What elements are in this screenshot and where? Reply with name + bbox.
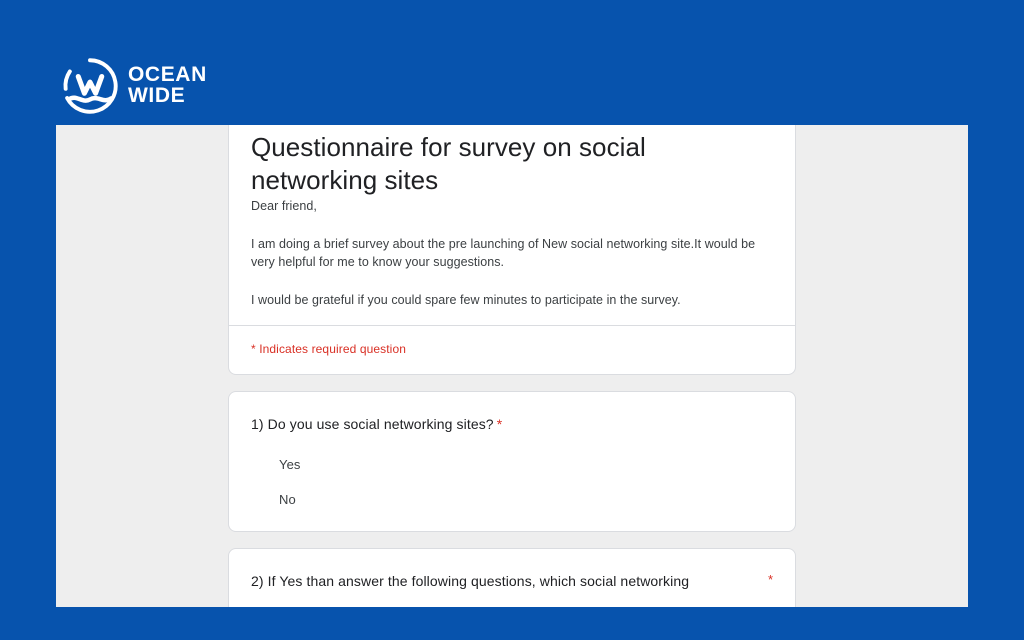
question-1-text: 1) Do you use social networking sites?: [251, 416, 494, 432]
question-2-title-row: 2) If Yes than answer the following ques…: [251, 571, 773, 592]
question-2-title: 2) If Yes than answer the following ques…: [251, 571, 758, 592]
form-description-line-1: Dear friend,: [251, 197, 773, 215]
brand-line-1: OCEAN: [128, 65, 207, 86]
brand-logo: OCEAN WIDE: [62, 58, 207, 114]
question-1-title: 1) Do you use social networking sites?*: [251, 414, 773, 435]
question-card-1: 1) Do you use social networking sites?* …: [228, 391, 796, 532]
form-header-card: Questionnaire for survey on social netwo…: [228, 125, 796, 375]
question-2-required-asterisk: *: [768, 571, 773, 587]
form-description-line-3: I would be grateful if you could spare f…: [251, 291, 773, 309]
brand-line-2: WIDE: [128, 86, 207, 107]
required-question-note: * Indicates required question: [229, 326, 795, 374]
option-yes-label: Yes: [279, 457, 301, 472]
option-no-label: No: [279, 492, 296, 507]
embedded-screenshot: Questionnaire for survey on social netwo…: [56, 125, 968, 607]
question-1-required-asterisk: *: [497, 416, 503, 432]
question-1-options: Yes No: [251, 457, 773, 507]
question-1-title-row: 1) Do you use social networking sites?*: [251, 414, 773, 435]
question-card-2: 2) If Yes than answer the following ques…: [228, 548, 796, 607]
form-description: Dear friend, I am doing a brief survey a…: [229, 197, 795, 326]
slide-canvas: OCEAN WIDE Questionnaire for survey on s…: [0, 0, 1024, 640]
ocean-wide-circular-wave-w-logo-icon: [62, 58, 118, 114]
google-form-column: Questionnaire for survey on social netwo…: [228, 125, 796, 607]
form-title: Questionnaire for survey on social netwo…: [229, 125, 795, 197]
form-description-line-2: I am doing a brief survey about the pre …: [251, 235, 773, 271]
brand-wordmark: OCEAN WIDE: [128, 65, 207, 106]
option-yes[interactable]: Yes: [251, 457, 773, 472]
option-no[interactable]: No: [251, 492, 773, 507]
